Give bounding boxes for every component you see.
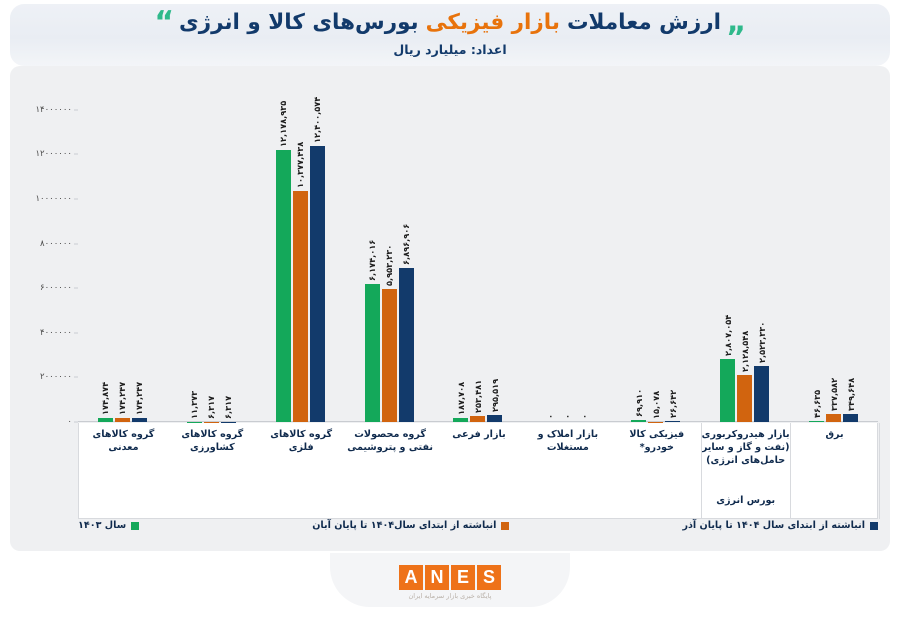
y-axis-tick-label: ۴۰۰۰۰۰۰ [32,328,72,338]
bar-value-label: ۱۵,۰۷۸ [651,391,661,419]
chart-page: “ ارزش معاملات بازار فیزیکی بورس‌های کال… [0,0,900,623]
bar-column[interactable]: ۳۴۹,۶۴۸ [843,92,858,422]
bar-value-label: ۳۴۹,۶۴۸ [846,378,856,411]
bar-column[interactable]: ۱۷۴,۲۴۷ [115,92,130,422]
bar-value-label: ۱۰,۳۷۷,۴۳۸ [295,141,305,187]
bar[interactable] [809,421,824,422]
bar-column[interactable]: ۰ [576,92,591,422]
energy-exchange-group-label: بورس انرژی [701,495,790,506]
bar-value-label: ۶۹,۹۱۰ [634,389,644,417]
bar-column[interactable]: ۲,۵۲۳,۳۳۰ [754,92,769,422]
bar-group: ۱۱,۳۷۳۶,۳۱۷۶,۳۱۷ [167,92,256,422]
bar[interactable] [382,289,397,422]
bar-group: ۰۰۰ [522,92,611,422]
title-accent: بازار فیزیکی [426,10,560,35]
bar-value-label: ۴۶,۶۳۵ [812,390,822,418]
bar[interactable] [631,420,646,422]
title-part1: ارزش معاملات [567,10,721,35]
bar-value-label: ۶,۳۱۷ [223,396,233,419]
bar-column[interactable]: ۲,۸۰۷,۰۵۴ [720,92,735,422]
bar[interactable] [399,268,414,422]
legend-label: انباشته از ابتدای سال ۱۴۰۴ تا پایان آذر [682,520,865,531]
bar[interactable] [487,415,502,422]
bar-value-label: ۲۵۳,۴۸۱ [473,380,483,413]
bar[interactable] [310,146,325,422]
bar-column[interactable]: ۱۰,۳۷۷,۴۳۸ [293,92,308,422]
chart-footer: SENA پایگاه خبری بازار سرمایه ایران [0,553,900,623]
sena-logo-letter: A [399,565,423,590]
bar-value-label: ۲,۱۲۸,۵۴۸ [740,330,750,371]
bar-group: ۶۹,۹۱۰۱۵,۰۷۸۲۶,۶۴۲ [611,92,700,422]
y-axis-tick-label: ۸۰۰۰۰۰۰ [32,239,72,249]
bar-column[interactable]: ۱۲,۱۷۸,۹۳۵ [276,92,291,422]
bar-column[interactable]: ۱۷۴,۸۷۴ [98,92,113,422]
y-axis-tick-label: ۱۰۰۰۰۰۰۰ [27,194,72,204]
bar-column[interactable]: ۵,۹۵۳,۲۳۰ [382,92,397,422]
bar[interactable] [470,416,485,422]
bar-column[interactable]: ۶,۸۹۶,۹۰۶ [399,92,414,422]
bar-value-label: ۰ [562,414,572,419]
bar-group: ۴۶,۶۳۵۳۳۷,۵۸۲۳۴۹,۶۴۸ [789,92,878,422]
bar-column[interactable]: ۲۹۵,۵۱۹ [487,92,502,422]
bar-column[interactable]: ۲,۱۲۸,۵۴۸ [737,92,752,422]
bar-column[interactable]: ۶,۱۷۴,۰۱۶ [365,92,380,422]
category-label: گروه کالاهای فلزی [257,429,346,455]
bar-column[interactable]: ۲۶,۶۴۲ [665,92,680,422]
legend-swatch-icon [501,522,509,530]
y-axis-tick-label: ۲۰۰۰۰۰۰ [32,372,72,382]
sena-logo: SENA پایگاه خبری بازار سرمایه ایران [0,565,900,600]
bar[interactable] [737,375,752,422]
bar-group: ۱۷۴,۸۷۴۱۷۴,۲۴۷۱۷۴,۲۴۷ [78,92,167,422]
title-row: “ ارزش معاملات بازار فیزیکی بورس‌های کال… [10,10,890,35]
bar-value-label: ۲۹۵,۵۱۹ [490,379,500,412]
category-divider [790,423,791,519]
bar-group: ۲,۸۰۷,۰۵۴۲,۱۲۸,۵۴۸۲,۵۲۳,۳۳۰ [700,92,789,422]
bar-value-label: ۲۶,۶۴۲ [668,390,678,418]
bar[interactable] [843,414,858,422]
bar-value-label: ۰ [579,414,589,419]
bar-value-label: ۳۳۷,۵۸۲ [829,378,839,411]
category-divider [879,423,880,519]
legend-item-azar[interactable]: انباشته از ابتدای سال ۱۴۰۴ تا پایان آذر [682,520,878,531]
bar-value-label: ۱۸۷,۷۰۸ [456,382,466,415]
bar[interactable] [293,191,308,422]
legend-swatch-icon [131,522,139,530]
y-axis-tick-label: ۱۲۰۰۰۰۰۰ [27,149,72,159]
bar-column[interactable]: ۲۵۳,۴۸۱ [470,92,485,422]
bar-value-label: ۱۲,۱۷۸,۹۳۵ [278,101,288,147]
legend-label: انباشته از ابتدای سال۱۴۰۴ تا پایان آبان [312,520,496,531]
bar-column[interactable]: ۱۱,۳۷۳ [187,92,202,422]
bar-column[interactable]: ۶۹,۹۱۰ [631,92,646,422]
bar-column[interactable]: ۰ [542,92,557,422]
category-label: بازار هیدروکربوری (نفت و گاز و سایر حامل… [701,429,790,468]
legend-label: سال ۱۴۰۳ [78,520,126,531]
category-label: برق [790,429,879,442]
bar-value-label: ۱۷۴,۲۴۷ [117,382,127,415]
sena-logo-letter: N [425,565,449,590]
category-label: فیزیکی کالا خودرو* [612,429,701,455]
bar-group: ۶,۱۷۴,۰۱۶۵,۹۵۳,۲۳۰۶,۸۹۶,۹۰۶ [345,92,434,422]
bar-value-label: ۱۱,۳۷۳ [189,391,199,419]
bar-column[interactable]: ۴۶,۶۳۵ [809,92,824,422]
bar-value-label: ۶,۸۹۶,۹۰۶ [401,224,411,265]
bar-column[interactable]: ۱۷۴,۲۴۷ [132,92,147,422]
bar-value-label: ۱۲,۴۰۰,۵۷۴ [312,96,322,142]
bar-column[interactable]: ۶,۳۱۷ [221,92,236,422]
bar[interactable] [276,150,291,422]
legend-item-y1403[interactable]: سال ۱۴۰۳ [78,520,139,531]
category-axis: گروه کالاهای معدنیگروه کالاهای کشاورزیگر… [78,423,878,519]
bar-value-label: ۶,۱۷۴,۰۱۶ [367,240,377,281]
bar[interactable] [754,366,769,422]
bar-group: ۱۲,۱۷۸,۹۳۵۱۰,۳۷۷,۴۳۸۱۲,۴۰۰,۵۷۴ [256,92,345,422]
sena-logo-letters: SENA [399,565,501,590]
bar-value-label: ۰ [545,414,555,419]
legend-item-aban[interactable]: انباشته از ابتدای سال۱۴۰۴ تا پایان آبان [312,520,509,531]
chart-subtitle: اعداد: میلیارد ریال [10,42,890,57]
category-label: گروه محصولات نفتی و پتروشیمی [346,429,435,455]
chart-legend: انباشته از ابتدای سال ۱۴۰۴ تا پایان آذرا… [78,520,878,531]
bar-column[interactable]: ۳۳۷,۵۸۲ [826,92,841,422]
quote-mark-icon-right: “ [728,12,746,33]
legend-swatch-icon [870,522,878,530]
category-label: گروه کالاهای معدنی [79,429,168,455]
bar-column[interactable]: ۱۸۷,۷۰۸ [453,92,468,422]
bar-column[interactable]: ۱۲,۴۰۰,۵۷۴ [310,92,325,422]
bar[interactable] [365,284,380,422]
bar-column[interactable]: ۰ [559,92,574,422]
bar[interactable] [453,418,468,422]
bar-value-label: ۲,۸۰۷,۰۵۴ [723,315,733,356]
bar-column[interactable]: ۶,۳۱۷ [204,92,219,422]
bar[interactable] [720,359,735,422]
bar[interactable] [826,414,841,422]
title-part2: بورس‌های کالا و انرژی [179,10,419,35]
category-label: بازار املاک و مستغلات [523,429,612,455]
bar-value-label: ۶,۳۱۷ [206,396,216,419]
y-axis-tick-label: ۰ [59,417,72,427]
bar[interactable] [115,418,130,422]
category-label: بازار فرعی [435,429,524,442]
bar-column[interactable]: ۱۵,۰۷۸ [648,92,663,422]
sena-logo-letter: S [477,565,501,590]
bar[interactable] [132,418,147,422]
y-axis-tick-label: ۱۴۰۰۰۰۰۰ [27,105,72,115]
sena-logo-letter: E [451,565,475,590]
bar-value-label: ۱۷۴,۸۷۴ [100,382,110,415]
chart-header: “ ارزش معاملات بازار فیزیکی بورس‌های کال… [10,4,890,66]
category-label: گروه کالاهای کشاورزی [168,429,257,455]
bar-value-label: ۵,۹۵۳,۲۳۰ [384,245,394,286]
quote-mark-icon-left: “ [154,12,172,33]
bar-group: ۱۸۷,۷۰۸۲۵۳,۴۸۱۲۹۵,۵۱۹ [434,92,523,422]
sena-logo-subtitle: پایگاه خبری بازار سرمایه ایران [409,592,492,600]
bar-value-label: ۲,۵۲۳,۳۳۰ [757,322,767,363]
plot-area: ۱۴۰۰۰۰۰۰۱۲۰۰۰۰۰۰۱۰۰۰۰۰۰۰۸۰۰۰۰۰۰۶۰۰۰۰۰۰۴۰… [78,92,878,422]
bar[interactable] [665,421,680,422]
bar-value-label: ۱۷۴,۲۴۷ [134,382,144,415]
bar[interactable] [98,418,113,422]
y-axis-tick-label: ۶۰۰۰۰۰۰ [32,283,72,293]
